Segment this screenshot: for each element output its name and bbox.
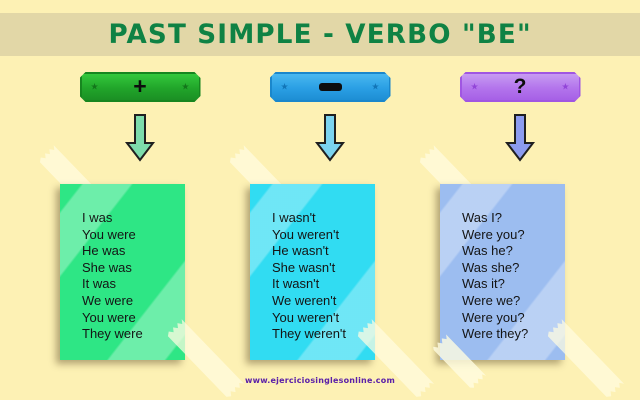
page-title: PAST SIMPLE - VERBO "BE": [108, 21, 531, 48]
badge-affirmative: ★ + ★: [80, 72, 201, 102]
footer-website-url: www.ejerciciosinglesonline.com: [0, 376, 640, 385]
list-item: You were: [82, 310, 185, 327]
verb-list-affirmative: I was You were He was She was It was We …: [60, 184, 185, 343]
list-item: It wasn't: [272, 276, 375, 293]
list-item: He wasn't: [272, 243, 375, 260]
plus-sign-icon: +: [133, 75, 146, 98]
card-affirmative: I was You were He was She was It was We …: [60, 184, 185, 360]
card-interrogative: Was I? Were you? Was he? Was she? Was it…: [440, 184, 565, 360]
star-icon: ★: [281, 83, 289, 92]
star-icon: ★: [181, 83, 189, 92]
list-item: We weren't: [272, 293, 375, 310]
list-item: She was: [82, 260, 185, 277]
verb-list-interrogative: Was I? Were you? Was he? Was she? Was it…: [440, 184, 565, 343]
list-item: You weren't: [272, 227, 375, 244]
badge-negative: ★ ★: [270, 72, 391, 102]
list-item: Was she?: [462, 260, 565, 277]
star-icon: ★: [561, 83, 569, 92]
list-item: You were: [82, 227, 185, 244]
star-icon: ★: [471, 83, 479, 92]
column-affirmative: ★ + ★ I was You were He was She was It w…: [50, 72, 230, 376]
list-item: She wasn't: [272, 260, 375, 277]
column-negative: ★ ★ I wasn't You weren't He wasn't She w…: [240, 72, 420, 376]
list-item: Were we?: [462, 293, 565, 310]
card-wrap-negative: I wasn't You weren't He wasn't She wasn'…: [240, 176, 420, 376]
list-item: Were you?: [462, 227, 565, 244]
down-arrow-blue-icon: [314, 113, 346, 163]
star-icon: ★: [91, 83, 99, 92]
column-interrogative: ★ ? ★ Was I? Were you? Was he? Was she? …: [430, 72, 610, 376]
list-item: It was: [82, 276, 185, 293]
list-item: He was: [82, 243, 185, 260]
star-icon: ★: [371, 83, 379, 92]
list-item: I was: [82, 210, 185, 227]
list-item: We were: [82, 293, 185, 310]
down-arrow-purple-icon: [504, 113, 536, 163]
card-wrap-affirmative: I was You were He was She was It was We …: [50, 176, 230, 376]
badge-interrogative: ★ ? ★: [460, 72, 581, 102]
list-item: Were you?: [462, 310, 565, 327]
list-item: Was he?: [462, 243, 565, 260]
card-negative: I wasn't You weren't He wasn't She wasn'…: [250, 184, 375, 360]
title-banner: PAST SIMPLE - VERBO "BE": [0, 13, 640, 56]
list-item: You weren't: [272, 310, 375, 327]
verb-list-negative: I wasn't You weren't He wasn't She wasn'…: [250, 184, 375, 343]
minus-sign-icon: [319, 83, 342, 91]
list-item: I wasn't: [272, 210, 375, 227]
down-arrow-green-icon: [124, 113, 156, 163]
question-mark-icon: ?: [514, 76, 527, 97]
list-item: Was it?: [462, 276, 565, 293]
list-item: Was I?: [462, 210, 565, 227]
